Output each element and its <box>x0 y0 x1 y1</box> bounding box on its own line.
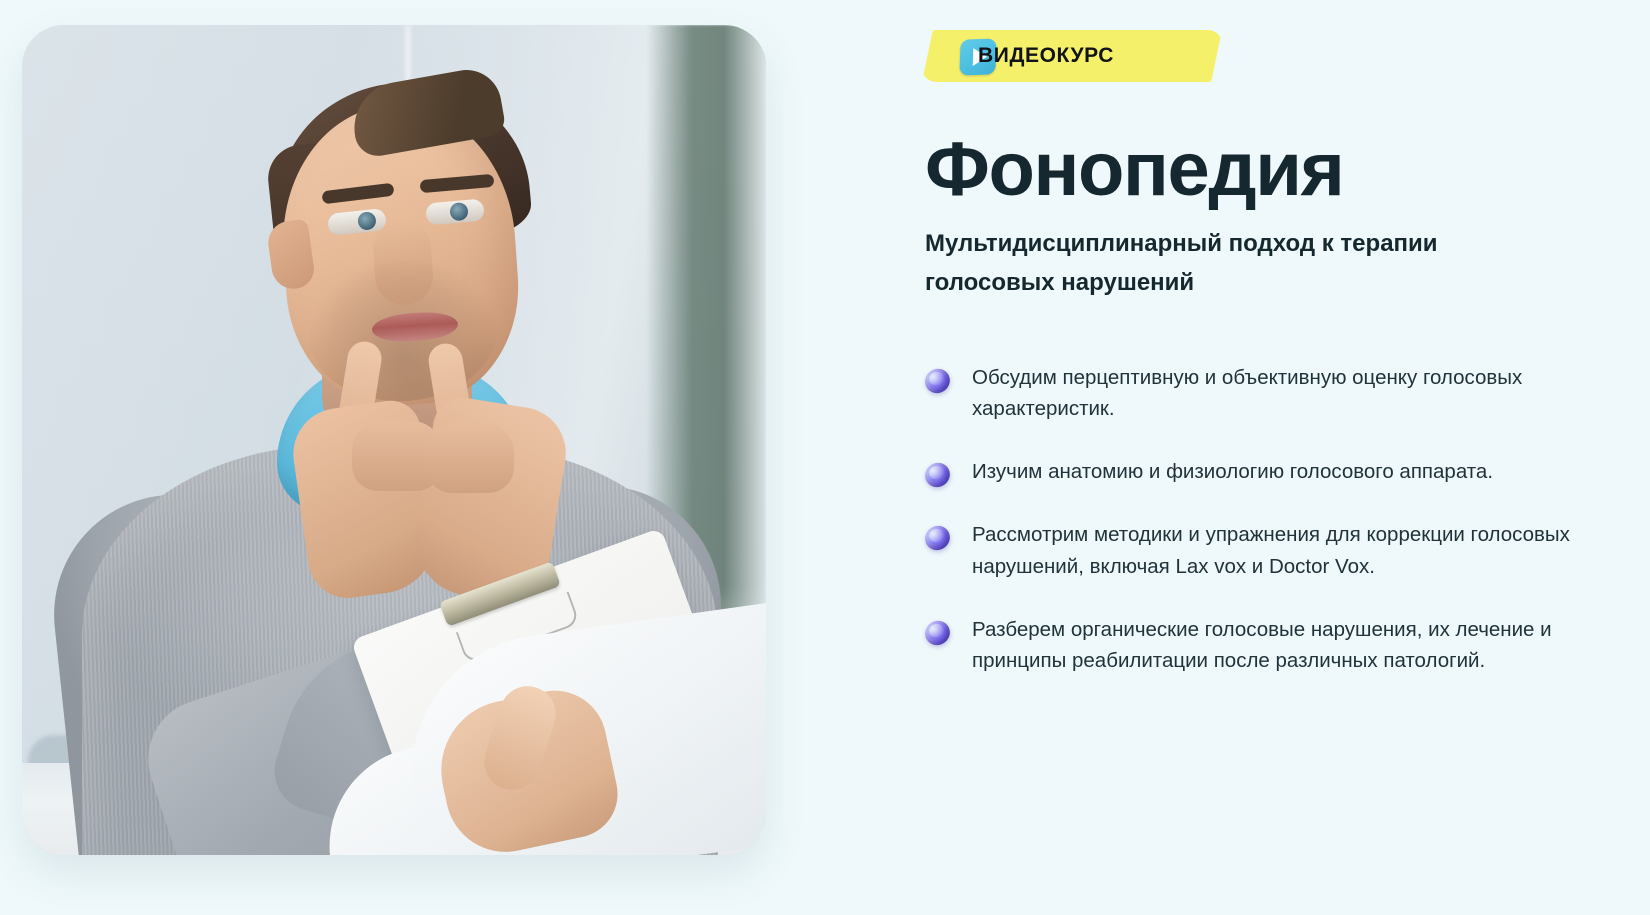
gradient-sphere-bullet-icon <box>925 462 950 487</box>
page-subtitle: Мультидисциплинарный подход к терапии го… <box>925 225 1565 303</box>
videocourse-badge: ВИДЕОКУРС <box>922 30 1222 82</box>
landing-page: ВИДЕОКУРС Фонопедия Мультидисциплинарный… <box>0 0 1650 915</box>
badge-content: ВИДЕОКУРС <box>922 30 1222 82</box>
list-item-label: Изучим анатомию и физиологию голосового … <box>972 456 1493 487</box>
gradient-sphere-bullet-icon <box>925 525 950 550</box>
patient-nose <box>371 219 435 307</box>
course-highlights-list: Обсудим перцептивную и объективную оценк… <box>925 362 1575 708</box>
gradient-sphere-bullet-icon <box>925 368 950 393</box>
list-item: Рассмотрим методики и упражнения для кор… <box>925 519 1575 581</box>
iris-left <box>357 211 377 231</box>
list-item-label: Обсудим перцептивную и объективную оценк… <box>972 362 1575 424</box>
patient-knuckles-right <box>426 423 514 493</box>
iris-right <box>449 202 469 222</box>
list-item-label: Рассмотрим методики и упражнения для кор… <box>972 519 1575 581</box>
hero-photo-card <box>22 25 766 855</box>
badge-label: ВИДЕОКУРС <box>978 44 1114 68</box>
list-item-label: Разберем органические голосовые нарушени… <box>972 614 1575 676</box>
hero-content: ВИДЕОКУРС Фонопедия Мультидисциплинарный… <box>925 0 1625 915</box>
gradient-sphere-bullet-icon <box>925 620 950 645</box>
list-item: Изучим анатомию и физиологию голосового … <box>925 456 1575 487</box>
list-item: Разберем органические голосовые нарушени… <box>925 614 1575 676</box>
page-title: Фонопедия <box>925 130 1344 211</box>
list-item: Обсудим перцептивную и объективную оценк… <box>925 362 1575 424</box>
